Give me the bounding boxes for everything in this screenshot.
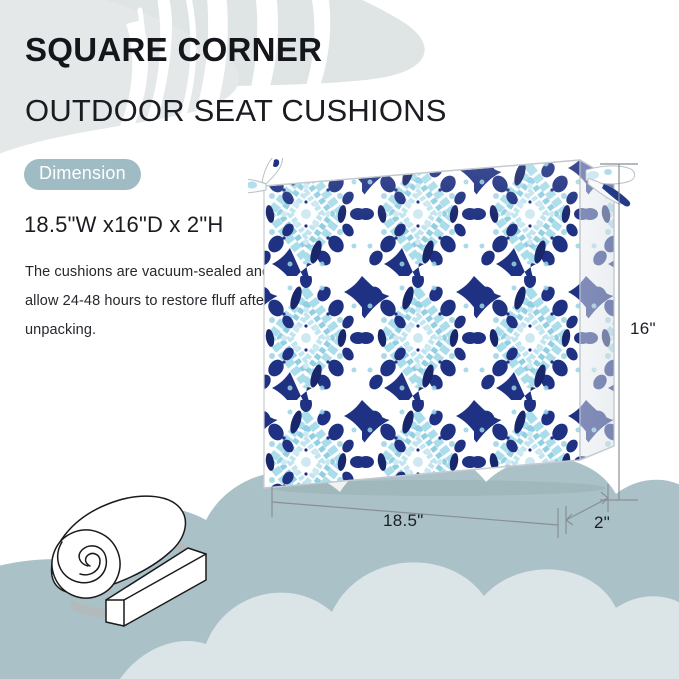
dimension-badge: Dimension bbox=[24, 159, 141, 190]
depth-arrow-left bbox=[566, 514, 573, 525]
roll-body bbox=[42, 496, 206, 626]
width-callout-label: 18.5" bbox=[383, 511, 424, 531]
page-title-secondary: OUTDOOR SEAT CUSHIONS bbox=[25, 95, 447, 128]
cushion-product-image bbox=[248, 158, 640, 506]
rolled-foam-illustration bbox=[28, 482, 268, 642]
product-infographic: SQUARE CORNER OUTDOOR SEAT CUSHIONS Dime… bbox=[0, 0, 679, 679]
depth-callout-label: 2" bbox=[594, 513, 610, 533]
height-callout-label: 16" bbox=[630, 319, 656, 339]
dimension-spec-text: 18.5"W x16"D x 2"H bbox=[24, 212, 223, 238]
page-title-primary: SQUARE CORNER bbox=[25, 33, 322, 68]
vacuum-seal-note: The cushions are vacuum-sealed and allow… bbox=[25, 258, 275, 345]
palm-leaf-decor-icon bbox=[0, 0, 425, 180]
